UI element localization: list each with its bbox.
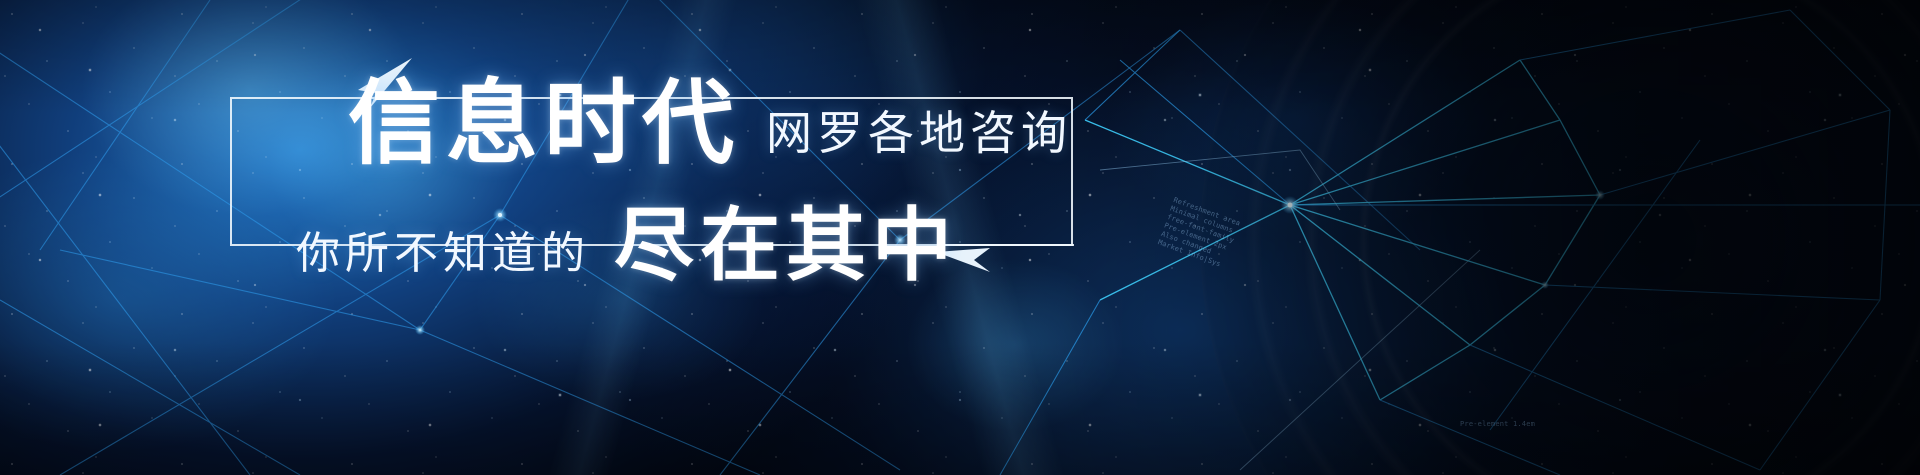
headline-line-1: 信息时代 网罗各地咨询 [348, 78, 1072, 170]
headline-sub-line1: 网罗各地咨询 [766, 110, 1072, 156]
headline-main-line1: 信息时代 [348, 78, 740, 170]
headline-main-line2: 尽在其中 [614, 206, 958, 286]
headline-sub-line2: 你所不知道的 [296, 232, 590, 276]
hero-banner: Refreshment area Minimal columns free-fo… [0, 0, 1920, 475]
headline-line-2: 你所不知道的 尽在其中 [296, 206, 958, 286]
hero-text-block: 信息时代 网罗各地咨询 你所不知道的 尽在其中 [0, 0, 1920, 475]
